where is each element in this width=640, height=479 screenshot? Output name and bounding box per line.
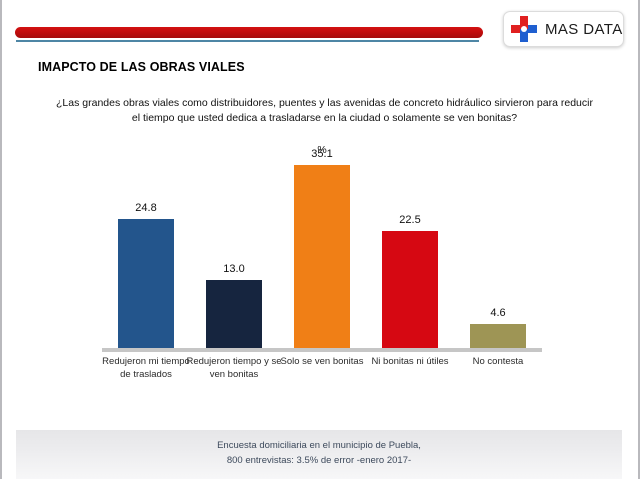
bar-group: 22.5 xyxy=(366,140,454,348)
bar-value-label: 24.8 xyxy=(102,202,190,214)
header-blue-rule xyxy=(16,40,479,42)
bar-value-label: 22.5 xyxy=(366,214,454,226)
bar xyxy=(118,219,174,348)
category-label: Solo se ven bonitas xyxy=(272,356,372,369)
footer-band: Encuesta domiciliaria en el municipio de… xyxy=(16,430,622,479)
mas-data-logo: MAS DATA xyxy=(503,11,624,47)
bar xyxy=(470,324,526,348)
category-label: Ni bonitas ni útiles xyxy=(360,356,460,369)
medical-cross-icon xyxy=(511,16,537,42)
bar xyxy=(294,165,350,348)
page-title: IMAPCTO DE LAS OBRAS VIALES xyxy=(38,60,245,74)
bar-value-label: 4.6 xyxy=(454,307,542,319)
bar-value-label: 13.0 xyxy=(190,263,278,275)
bar xyxy=(382,231,438,348)
logo-text: MAS DATA xyxy=(545,21,623,38)
footer-source-note: Encuesta domiciliaria en el municipio de… xyxy=(16,439,622,468)
bar-group: 13.0 xyxy=(190,140,278,348)
category-label: Redujeron tiempo y se ven bonitas xyxy=(184,356,284,382)
category-label: Redujeron mi tiempo de traslados xyxy=(96,356,196,382)
footer-line-2: 800 entrevistas: 3.5% de error -enero 20… xyxy=(16,454,622,469)
bar-group: 35.1 xyxy=(278,140,366,348)
bar-group: 4.6 xyxy=(454,140,542,348)
bar xyxy=(206,280,262,348)
footer-line-1: Encuesta domiciliaria en el municipio de… xyxy=(16,439,622,454)
category-label: No contesta xyxy=(448,356,548,369)
header-red-rule xyxy=(15,27,483,38)
survey-question: ¿Las grandes obras viales como distribui… xyxy=(52,96,597,126)
slide-canvas: MAS DATA IMAPCTO DE LAS OBRAS VIALES ¿La… xyxy=(0,0,640,479)
bar-value-label: 35.1 xyxy=(278,148,366,160)
bar-group: 24.8 xyxy=(102,140,190,348)
bar-chart: % 24.813.035.122.54.6 xyxy=(102,140,542,352)
chart-baseline-axis xyxy=(102,348,542,352)
